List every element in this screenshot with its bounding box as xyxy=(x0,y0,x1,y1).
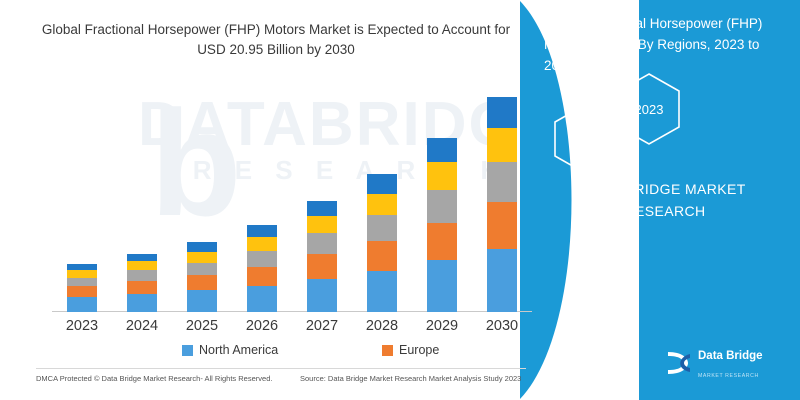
x-axis-label-2029: 2029 xyxy=(412,318,472,334)
bar-segment xyxy=(427,223,457,261)
bar-segment xyxy=(367,194,397,216)
x-axis-label-2023: 2023 xyxy=(52,318,112,334)
bar-segment xyxy=(307,279,337,312)
bar-group-2028 xyxy=(367,174,397,312)
x-axis-label-2026: 2026 xyxy=(232,318,292,334)
x-axis-label-2027: 2027 xyxy=(292,318,352,334)
x-axis-label-2025: 2025 xyxy=(172,318,232,334)
bar-segment xyxy=(67,297,97,312)
legend-swatch-icon xyxy=(182,345,193,356)
bar-segment xyxy=(427,138,457,163)
x-axis-label-2024: 2024 xyxy=(112,318,172,334)
bar-group-2029 xyxy=(427,138,457,312)
chart-legend: North AmericaEurope xyxy=(52,343,522,363)
legend-item-europe[interactable]: Europe xyxy=(382,343,439,357)
x-axis-labels: 20232024202520262027202820292030 xyxy=(52,318,532,338)
brand-text: DATA BRIDGE MARKET RESEARCH xyxy=(540,178,790,223)
legend-label: North America xyxy=(199,343,278,357)
bar-group-2030 xyxy=(487,97,517,312)
bar-segment xyxy=(307,201,337,216)
hexagon-2023-label: 2023 xyxy=(635,102,664,117)
hexagon-2030: 2030 xyxy=(552,104,614,174)
bar-segment xyxy=(187,290,217,312)
bar-segment xyxy=(187,275,217,290)
brand-line1: DATA BRIDGE MARKET xyxy=(540,178,790,200)
bar-segment xyxy=(247,237,277,251)
panel-title: Global Fractional Horsepower (FHP) Motor… xyxy=(544,14,786,77)
legend-item-north-america[interactable]: North America xyxy=(182,343,278,357)
bar-segment xyxy=(367,174,397,193)
bar-segment xyxy=(247,286,277,312)
bar-segment xyxy=(367,215,397,241)
logo-text: Data Bridge xyxy=(698,349,763,363)
hexagon-2030-label: 2030 xyxy=(569,132,598,147)
company-logo: Data Bridge MARKET RESEARCH xyxy=(664,348,784,382)
bar-segment xyxy=(427,260,457,312)
bar-segment xyxy=(127,261,157,270)
bar-segment xyxy=(127,270,157,281)
bar-segment xyxy=(247,225,277,237)
chart-title: Global Fractional Horsepower (FHP) Motor… xyxy=(36,20,516,61)
legend-label: Europe xyxy=(399,343,439,357)
footer-copyright: DMCA Protected © Data Bridge Market Rese… xyxy=(36,374,272,383)
bar-segment xyxy=(487,162,517,202)
bar-segment xyxy=(307,233,337,253)
infographic-canvas: b DATABRIDGE R E S E A R C H Global Frac… xyxy=(0,0,800,400)
bar-group-2023 xyxy=(67,264,97,312)
bar-segment xyxy=(427,162,457,190)
logo-line1: Data Bridge xyxy=(698,349,763,363)
bar-group-2024 xyxy=(127,254,157,312)
bar-segment xyxy=(367,241,397,271)
bar-segment xyxy=(67,286,97,297)
legend-swatch-icon xyxy=(382,345,393,356)
bar-segment xyxy=(127,254,157,262)
bar-segment xyxy=(307,216,337,233)
hexagon-2023: 2023 xyxy=(616,72,682,146)
bar-segment xyxy=(487,249,517,312)
bar-segment xyxy=(247,251,277,267)
stacked-bar-chart xyxy=(52,86,532,312)
bar-segment xyxy=(67,270,97,278)
logo-mark-icon xyxy=(664,348,694,378)
footer-divider xyxy=(36,368,526,369)
bar-segment xyxy=(247,267,277,286)
bar-segment xyxy=(487,97,517,128)
right-info-panel: Global Fractional Horsepower (FHP) Motor… xyxy=(520,0,800,400)
brand-line2: RESEARCH xyxy=(540,200,790,222)
x-axis-line xyxy=(52,311,532,312)
bar-segment xyxy=(127,281,157,294)
bar-group-2027 xyxy=(307,201,337,312)
bar-segment xyxy=(427,190,457,222)
bar-group-2026 xyxy=(247,225,277,312)
bar-segment xyxy=(487,128,517,162)
x-axis-label-2030: 2030 xyxy=(472,318,532,334)
bar-group-2025 xyxy=(187,242,217,312)
footer-source: Source: Data Bridge Market Research Mark… xyxy=(300,374,521,383)
bar-segment xyxy=(307,254,337,279)
bar-segment xyxy=(367,271,397,312)
bar-segment xyxy=(187,263,217,276)
bar-segment xyxy=(187,242,217,252)
bar-segment xyxy=(127,294,157,312)
bar-segment xyxy=(187,252,217,263)
bar-segment xyxy=(67,278,97,287)
logo-tagline: MARKET RESEARCH xyxy=(698,373,759,379)
bar-segment xyxy=(487,202,517,248)
x-axis-label-2028: 2028 xyxy=(352,318,412,334)
